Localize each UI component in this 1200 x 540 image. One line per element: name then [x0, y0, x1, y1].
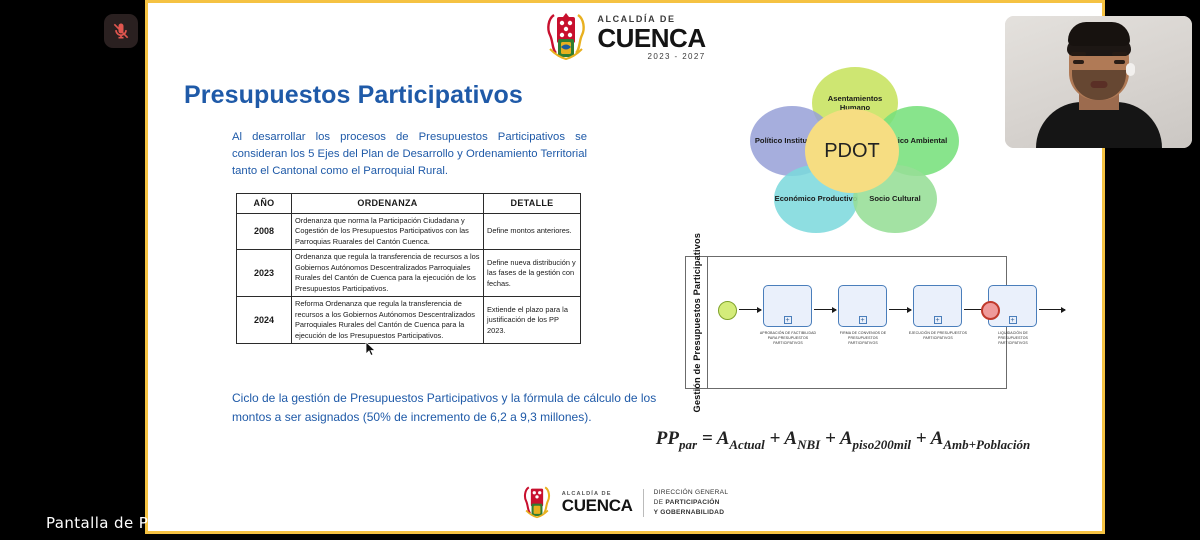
bpmn-arrow	[814, 309, 836, 310]
intro-paragraph: Al desarrollar los procesos de Presupues…	[232, 129, 587, 180]
footer-divider	[643, 489, 644, 517]
bpmn-pool: Gestión de Presupuestos Participativos +…	[685, 256, 1007, 389]
self-view-video-tile[interactable]	[1005, 16, 1192, 148]
participant-hair	[1068, 22, 1130, 46]
formula-a3-sub: piso200mil	[853, 437, 912, 452]
bpmn-task-2[interactable]: +	[838, 285, 887, 327]
slide-header: ALCALDÍA DE CUENCA 2023 - 2027	[148, 9, 1102, 67]
bpmn-start-event	[718, 301, 737, 320]
pdot-diagram: Asentamientos Humano Político Institucio…	[738, 61, 968, 241]
footer-dept-line-3-text: Y GOBERNABILIDAD	[654, 509, 725, 516]
formula-a4-sub: Amb+Población	[943, 437, 1030, 452]
column-header-ordenanza: ORDENANZA	[292, 194, 484, 214]
brand-lockup: ALCALDÍA DE CUENCA 2023 - 2027	[597, 15, 705, 61]
footer-brand-big: CUENCA	[562, 497, 633, 514]
footer-dept-prefix: DE	[654, 499, 666, 506]
pdot-center-label: PDOT	[805, 109, 899, 193]
participant-eye-right	[1114, 60, 1125, 64]
bpmn-arrow	[1039, 309, 1065, 310]
cell-ordenanza: Ordenanza que regula la transferencia de…	[292, 250, 484, 297]
plus-icon: +	[784, 316, 792, 324]
bpmn-task-1[interactable]: +	[763, 285, 812, 327]
bpmn-task-3-label: EJECUCIÓN DE PRESUPUESTOS PARTICIPATIVOS	[908, 331, 968, 341]
footer-dept-bold: PARTICIPACIÓN	[665, 499, 719, 506]
brand-line-2: CUENCA	[597, 25, 705, 51]
bpmn-end-event	[981, 301, 1000, 320]
mouse-cursor	[365, 341, 377, 357]
cell-detalle: Extiende el plazo para la justificación …	[484, 297, 581, 344]
participant-eye-left	[1073, 60, 1084, 64]
participant-brow-right	[1112, 52, 1127, 56]
formula-a1: A	[717, 428, 730, 449]
video-participant	[1033, 44, 1165, 148]
earbud-icon	[1126, 63, 1135, 76]
cell-detalle: Define montos anteriores.	[484, 213, 581, 250]
formula-eq: =	[697, 428, 717, 449]
bpmn-arrow	[739, 309, 761, 310]
brand-line-3: 2023 - 2027	[597, 53, 705, 61]
column-header-detalle: DETALLE	[484, 194, 581, 214]
cuenca-coat-of-arms-icon	[544, 9, 588, 67]
footer-dept-line-2: DE PARTICIPACIÓN	[654, 498, 729, 508]
plus-icon: +	[1009, 316, 1017, 324]
meeting-screen: Pantalla de P	[0, 0, 1200, 540]
formula-a3: A	[840, 428, 853, 449]
footer-brand: ALCALDÍA DE CUENCA	[562, 492, 633, 515]
bpmn-task-1-label: APROBACIÓN DE FACTIBILIDAD PARA PRESUPUE…	[758, 331, 818, 346]
bpmn-lane-label: Gestión de Presupuestos Participativos	[686, 257, 708, 388]
formula-plus-1: +	[765, 428, 785, 449]
cell-year: 2024	[237, 297, 292, 344]
slide-footer: ALCALDÍA DE CUENCA DIRECCIÓN GENERAL DE …	[148, 483, 1102, 523]
bpmn-task-2-label: FIRMA DE CONVENIOS DE PRESUPUESTOS PARTI…	[833, 331, 893, 346]
formula-pp-sub: par	[679, 437, 697, 452]
cell-year: 2023	[237, 250, 292, 297]
table-header-row: AÑO ORDENANZA DETALLE	[237, 194, 581, 214]
participant-brow-left	[1071, 52, 1086, 56]
footer-dept-line-1: DIRECCIÓN GENERAL	[654, 488, 729, 498]
plus-icon: +	[859, 316, 867, 324]
formula-plus-3: +	[911, 428, 931, 449]
formula-pp: PP	[656, 428, 679, 449]
plus-icon: +	[934, 316, 942, 324]
cell-detalle: Define nueva distribución y las fases de…	[484, 250, 581, 297]
column-header-year: AÑO	[237, 194, 292, 214]
microphone-muted-icon[interactable]	[104, 14, 138, 48]
formula-a1-sub: Actual	[729, 437, 764, 452]
formula-plus-2: +	[820, 428, 840, 449]
bpmn-arrow	[889, 309, 911, 310]
formula-a2: A	[784, 428, 797, 449]
footer-coat-of-arms-icon	[522, 483, 552, 523]
footer-department: DIRECCIÓN GENERAL DE PARTICIPACIÓN Y GOB…	[654, 488, 729, 518]
footer-dept-line-3: Y GOBERNABILIDAD	[654, 508, 729, 518]
cycle-paragraph: Ciclo de la gestión de Presupuestos Part…	[232, 389, 662, 426]
cell-ordenanza: Reforma Ordenanza que regula la transfer…	[292, 297, 484, 344]
bpmn-flow: + APROBACIÓN DE FACTIBILIDAD PARA PRESUP…	[716, 257, 1002, 388]
cell-year: 2008	[237, 213, 292, 250]
cell-ordenanza: Ordenanza que norma la Participación Ciu…	[292, 213, 484, 250]
page-title: Presupuestos Participativos	[184, 81, 523, 110]
shared-slide-frame: ALCALDÍA DE CUENCA 2023 - 2027 Presupues…	[145, 0, 1105, 534]
participant-mouth	[1090, 81, 1107, 88]
slide-canvas: ALCALDÍA DE CUENCA 2023 - 2027 Presupues…	[148, 3, 1102, 531]
formula-a4: A	[931, 428, 944, 449]
bpmn-task-3[interactable]: +	[913, 285, 962, 327]
bpmn-task-4-label: LIQUIDACIÓN DE PRESUPUESTOS PARTICIPATIV…	[983, 331, 1043, 346]
table-row: 2023 Ordenanza que regula la transferenc…	[237, 250, 581, 297]
budget-formula: PPpar = AActual + ANBI + Apiso200mil + A…	[603, 428, 1083, 453]
bpmn-lane-text: Gestión de Presupuestos Participativos	[692, 233, 702, 412]
table-row: 2008 Ordenanza que norma la Participació…	[237, 213, 581, 250]
formula-a2-sub: NBI	[797, 437, 820, 452]
table-row: 2024 Reforma Ordenanza que regula la tra…	[237, 297, 581, 344]
ordinances-table: AÑO ORDENANZA DETALLE 2008 Ordenanza que…	[236, 193, 581, 344]
share-status-label: Pantalla de P	[46, 514, 148, 532]
